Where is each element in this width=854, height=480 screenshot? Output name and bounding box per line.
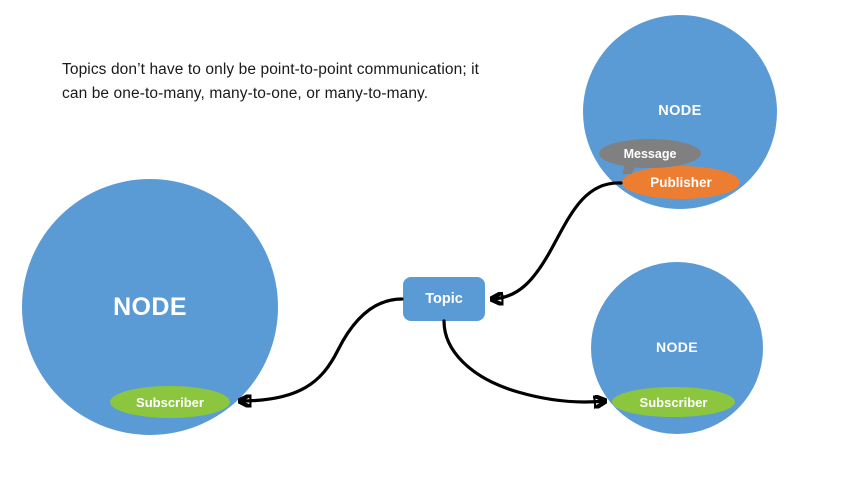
diagram-canvas: Topics don’t have to only be point-to-po…: [0, 0, 854, 480]
publisher-pill-label: Publisher: [650, 175, 712, 190]
subscriber-pill-left-label: Subscriber: [136, 395, 204, 410]
connector-publisher-to-topic: [492, 183, 621, 299]
message-bubble-label: Message: [624, 147, 677, 161]
topic-box[interactable]: Topic: [403, 277, 485, 321]
publisher-pill[interactable]: Publisher: [622, 166, 740, 199]
caption-text: Topics don’t have to only be point-to-po…: [62, 58, 482, 106]
node-subscriber-bottom-right-label: NODE: [591, 339, 763, 355]
message-bubble[interactable]: Message: [599, 139, 701, 168]
subscriber-pill-bottom-right[interactable]: Subscriber: [612, 387, 735, 417]
caption-line-1: Topics don’t have to only be point-to-po…: [62, 61, 479, 78]
node-publisher-label: NODE: [583, 103, 777, 119]
caption-line-2: can be one-to-many, many-to-one, or many…: [62, 85, 428, 102]
connector-topic-to-subscriber-bottom-right: [444, 321, 605, 402]
subscriber-pill-left[interactable]: Subscriber: [110, 386, 230, 418]
topic-label: Topic: [425, 291, 463, 307]
subscriber-pill-bottom-right-label: Subscriber: [640, 395, 708, 410]
node-subscriber-left-label: NODE: [22, 293, 278, 322]
